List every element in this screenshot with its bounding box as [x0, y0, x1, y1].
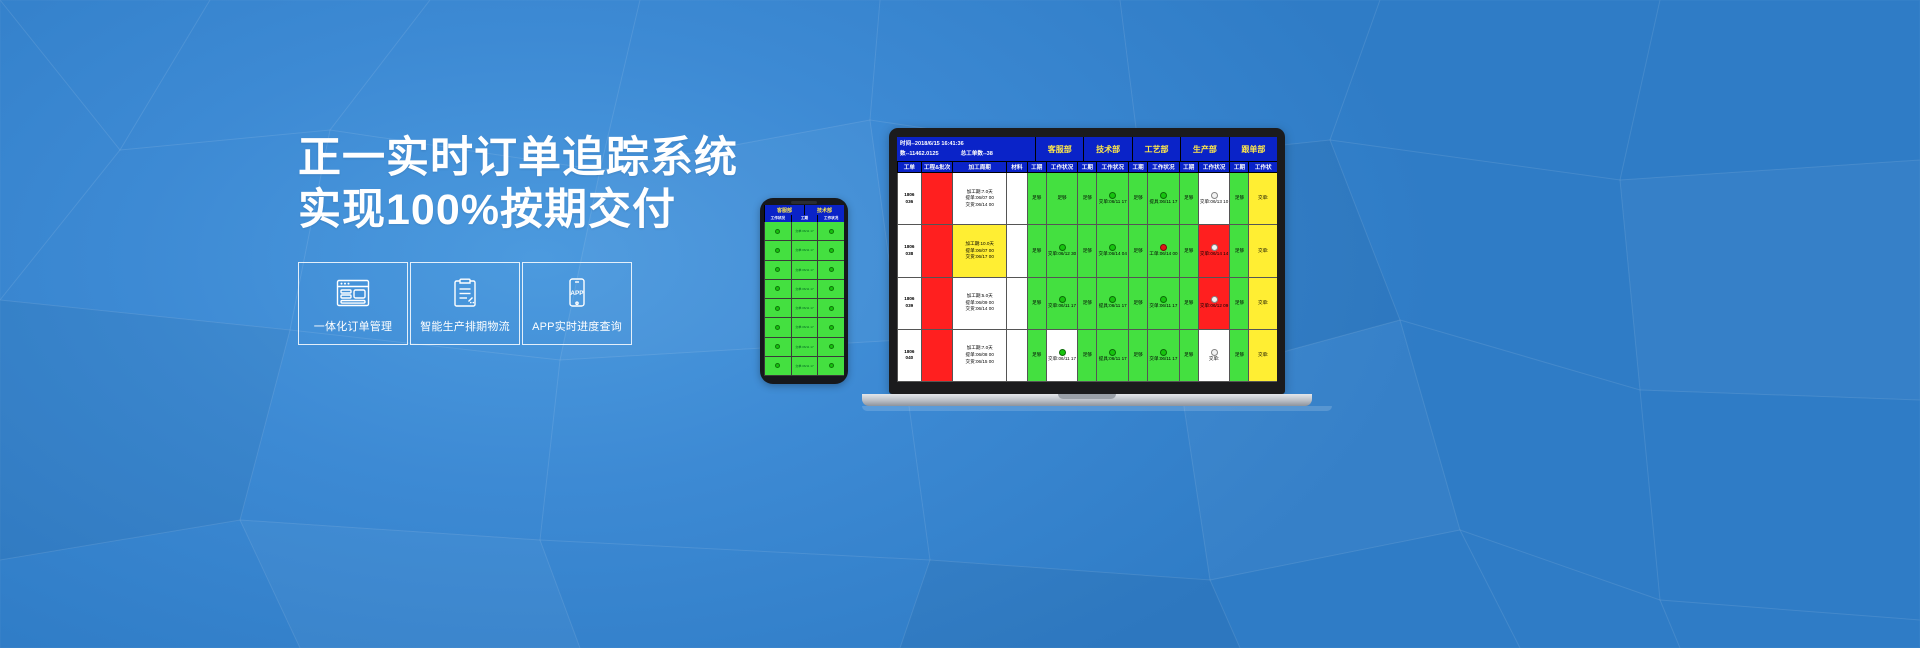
status-dot-icon: [775, 286, 780, 291]
dashboard-meta: 时间--2018/6/15 16:41:36 数--11462.0125 总工单…: [897, 137, 1035, 161]
cell-workstatus-1: 交单:06/14 04: [1096, 225, 1128, 276]
laptop-screen[interactable]: 时间--2018/6/15 16:41:36 数--11462.0125 总工单…: [897, 137, 1277, 382]
cell-label: 交单:: [1209, 356, 1219, 363]
phone-cell-1: 交单:06/11 17: [791, 299, 818, 317]
cell-material: [1006, 225, 1027, 276]
cell-workperiod-2: 足够: [1128, 225, 1147, 276]
phone-cell-2: [817, 338, 844, 356]
column-header-5: 工作状况: [1046, 162, 1078, 172]
cell-workstatus-2: 工单:06/14 00: [1147, 225, 1179, 276]
phone-cell-label: 交单:06/11 17: [795, 345, 813, 349]
cell-label: 提具:06/11 17: [1149, 199, 1177, 206]
column-header-13: 工作状: [1248, 162, 1276, 172]
column-header-7: 工作状况: [1096, 162, 1128, 172]
department-gendan: 跟单部: [1229, 137, 1277, 161]
promo-banner: 正一实时订单追踪系统 实现100%按期交付 一体化订单管理: [0, 0, 1920, 648]
cell-workperiod-4: 足够: [1229, 330, 1248, 381]
phone-cell-label: 交单:06/11 17: [795, 248, 813, 252]
cell-label: 交单:06/11 17: [1099, 199, 1127, 206]
cell-workstatus-4: 交单:: [1248, 330, 1276, 381]
phone-list-item[interactable]: 交单:06/11 17: [764, 338, 844, 357]
status-dot-icon: [775, 248, 780, 253]
cell-workperiod-0: 足够: [1027, 330, 1046, 381]
phone-col-1: 工期: [791, 215, 818, 222]
status-dot-icon: [1109, 244, 1116, 251]
cell-workstatus-1: 交单:06/11 17: [1096, 173, 1128, 224]
phone-cell-2: [817, 222, 844, 240]
cell-workstatus-1: 提具:06/11 17: [1096, 330, 1128, 381]
phone-cell-0: [764, 280, 791, 298]
status-dot-icon: [829, 325, 834, 330]
cell-material: [1006, 173, 1027, 224]
phone-body: 客服部 技术部 工作状况 工期 工作状况 交单:06/11 17交单:06/11…: [760, 198, 848, 384]
phone-cell-label: 交单:06/11 17: [795, 287, 813, 291]
cell-workstatus-3: 交单:06/12 09: [1198, 278, 1230, 329]
phone-list-item[interactable]: 交单:06/11 17: [764, 261, 844, 280]
dashboard-time: 时间--2018/6/15 16:41:36: [900, 139, 1033, 149]
cell-label: 交单:: [1258, 248, 1268, 255]
cell-label: 交单:06/14 04: [1099, 251, 1127, 258]
cell-workstatus-4: 交单:: [1248, 278, 1276, 329]
cell-cycle: 加工期:10.0天提单:06/07 00交货:06/17 00: [952, 225, 1006, 276]
feature-card-label: 一体化订单管理: [314, 318, 392, 334]
status-dot-icon: [829, 344, 834, 349]
phone-cell-1: 交单:06/11 17: [791, 318, 818, 336]
phone-cell-1: 交单:06/11 17: [791, 338, 818, 356]
feature-card-order-management[interactable]: 一体化订单管理: [298, 262, 408, 345]
cell-workperiod-3: 足够: [1179, 225, 1198, 276]
department-shengchan: 生产部: [1180, 137, 1228, 161]
cell-workperiod-2: 足够: [1128, 330, 1147, 381]
dashboard-layout-icon: [336, 274, 370, 312]
status-dot-icon: [1109, 192, 1116, 199]
department-jishu: 技术部: [1083, 137, 1131, 161]
phone-column-header: 工作状况 工期 工作状况: [764, 215, 844, 222]
cell-label: 交单:06/13 10: [1200, 199, 1228, 206]
cell-workstatus-4: 交单:: [1248, 225, 1276, 276]
cell-workperiod-1: 足够: [1077, 330, 1096, 381]
phone-cell-0: [764, 241, 791, 259]
status-dot-icon: [775, 306, 780, 311]
column-header-6: 工期: [1077, 162, 1096, 172]
cell-workperiod-3: 足够: [1179, 330, 1198, 381]
status-dot-icon: [775, 267, 780, 272]
cell-workstatus-0: 足够: [1046, 173, 1078, 224]
cell-workperiod-2: 足够: [1128, 173, 1147, 224]
phone-department-header: 客服部 技术部: [764, 205, 844, 215]
column-header-0: 工单: [897, 162, 921, 172]
feature-card-app-progress[interactable]: APP APP实时进度查询: [522, 262, 632, 345]
cell-workperiod-1: 足够: [1077, 173, 1096, 224]
laptop-device: 时间--2018/6/15 16:41:36 数--11462.0125 总工单…: [862, 128, 1312, 411]
dashboard-total: 总工单数--38: [961, 149, 993, 159]
cell-label: 交单:06/14 14: [1200, 251, 1228, 258]
cell-workstatus-4: 交单:: [1248, 173, 1276, 224]
phone-list-item[interactable]: 交单:06/11 17: [764, 280, 844, 299]
phone-cell-1: 交单:06/11 17: [791, 357, 818, 375]
status-dot-icon: [1160, 192, 1167, 199]
cell-cycle: 加工期:7.0天提单:06/08 00交货:06/15 00: [952, 330, 1006, 381]
cell-workstatus-0: 交单:06/11 17: [1046, 278, 1078, 329]
status-dot-icon: [1211, 349, 1218, 356]
phone-cell-2: [817, 357, 844, 375]
cell-label: 交单:: [1258, 352, 1268, 359]
cell-workperiod-0: 足够: [1027, 278, 1046, 329]
status-dot-icon: [829, 286, 834, 291]
table-row[interactable]: 1806040加工期:7.0天提单:06/08 00交货:06/15 00足够交…: [897, 330, 1277, 382]
table-column-header: 工单工程&批次加工周期材料工期工作状况工期工作状况工期工作状况工期工作状况工期工…: [897, 162, 1277, 173]
phone-screen[interactable]: 客服部 技术部 工作状况 工期 工作状况 交单:06/11 17交单:06/11…: [764, 205, 844, 376]
phone-list-item[interactable]: 交单:06/11 17: [764, 299, 844, 318]
dashboard-count: 数--11462.0125: [900, 149, 939, 159]
cell-workstatus-3: 交单:: [1198, 330, 1230, 381]
cell-project-batch: [921, 330, 953, 381]
phone-cell-2: [817, 261, 844, 279]
cell-workperiod-3: 足够: [1179, 173, 1198, 224]
phone-cell-2: [817, 241, 844, 259]
dashboard-header: 时间--2018/6/15 16:41:36 数--11462.0125 总工单…: [897, 137, 1277, 162]
cell-order-number: 1806038: [897, 225, 921, 276]
cell-project-batch: [921, 173, 953, 224]
laptop-trackpad-notch: [1058, 394, 1116, 399]
phone-device: 客服部 技术部 工作状况 工期 工作状况 交单:06/11 17交单:06/11…: [760, 198, 848, 384]
phone-cell-2: [817, 318, 844, 336]
cell-workstatus-2: 交单:06/11 17: [1147, 330, 1179, 381]
phone-list-item[interactable]: 交单:06/11 17: [764, 222, 844, 241]
cell-workperiod-2: 足够: [1128, 278, 1147, 329]
table-row[interactable]: 1806036加工期:7.0天提单:06/07 00交货:06/14 00足够足…: [897, 173, 1277, 225]
column-header-12: 工期: [1229, 162, 1248, 172]
status-dot-icon: [775, 325, 780, 330]
cell-workperiod-3: 足够: [1179, 278, 1198, 329]
status-dot-icon: [1211, 192, 1218, 199]
status-dot-icon: [829, 248, 834, 253]
status-dot-icon: [829, 267, 834, 272]
phone-cell-1: 交单:06/11 17: [791, 241, 818, 259]
cell-project-batch: [921, 278, 953, 329]
cell-label: 交单:: [1258, 300, 1268, 307]
department-kefu: 客服部: [1035, 137, 1083, 161]
feature-card-label: APP实时进度查询: [532, 318, 622, 334]
phone-list-item[interactable]: 交单:06/11 17: [764, 241, 844, 260]
laptop-base: [862, 394, 1312, 406]
headline-line-1: 正一实时订单追踪系统: [298, 132, 858, 184]
cell-workperiod-1: 足够: [1077, 225, 1096, 276]
cell-label: 足够: [1057, 195, 1066, 202]
cell-workperiod-0: 足够: [1027, 225, 1046, 276]
phone-dept-1: 技术部: [804, 205, 844, 215]
status-dot-icon: [829, 229, 834, 234]
cell-label: 交单:06/11 17: [1048, 356, 1076, 363]
cell-order-number: 1806040: [897, 330, 921, 381]
cell-project-batch: [921, 225, 953, 276]
phone-cell-0: [764, 261, 791, 279]
status-dot-icon: [1211, 244, 1218, 251]
cell-workperiod-4: 足够: [1229, 225, 1248, 276]
table-row[interactable]: 1806038加工期:10.0天提单:06/07 00交货:06/17 00足够…: [897, 225, 1277, 277]
cell-label: 提具:06/11 17: [1099, 303, 1127, 310]
cell-workstatus-1: 提具:06/11 17: [1096, 278, 1128, 329]
phone-cell-0: [764, 338, 791, 356]
dashboard-data-grid[interactable]: 1806036加工期:7.0天提单:06/07 00交货:06/14 00足够足…: [897, 173, 1277, 382]
column-header-8: 工期: [1128, 162, 1147, 172]
phone-notch: [791, 201, 817, 204]
cell-workperiod-4: 足够: [1229, 173, 1248, 224]
cell-workperiod-0: 足够: [1027, 173, 1046, 224]
phone-cell-0: [764, 222, 791, 240]
phone-cell-0: [764, 357, 791, 375]
feature-card-label: 智能生产排期物流: [420, 318, 510, 334]
svg-text:APP: APP: [570, 290, 584, 297]
cell-order-number: 1806036: [897, 173, 921, 224]
clipboard-schedule-icon: [451, 274, 479, 312]
cell-label: 交单:06/12 30: [1048, 251, 1076, 258]
phone-cell-1: 交单:06/11 17: [791, 280, 818, 298]
table-row[interactable]: 1806039加工期:5.0天提单:06/09 00交货:06/14 00足够交…: [897, 278, 1277, 330]
cell-label: 交单:06/11 17: [1048, 303, 1076, 310]
department-gongyi: 工艺部: [1132, 137, 1180, 161]
phone-cell-1: 交单:06/11 17: [791, 261, 818, 279]
phone-col-2: 工作状况: [817, 215, 844, 222]
feature-card-list: 一体化订单管理 智能生产排期物流: [298, 262, 632, 345]
column-header-3: 材料: [1006, 162, 1027, 172]
feature-card-production-schedule[interactable]: 智能生产排期物流: [410, 262, 520, 345]
cell-label: 工单:06/14 00: [1149, 251, 1177, 258]
cell-workstatus-0: 交单:06/12 30: [1046, 225, 1078, 276]
column-header-9: 工作状况: [1147, 162, 1179, 172]
phone-cell-label: 交单:06/11 17: [795, 229, 813, 233]
cell-workstatus-3: 交单:06/13 10: [1198, 173, 1230, 224]
cell-label: 提具:06/11 17: [1099, 356, 1127, 363]
cell-material: [1006, 330, 1027, 381]
status-dot-icon: [1059, 349, 1066, 356]
column-header-10: 工期: [1179, 162, 1198, 172]
cell-cycle: 加工期:5.0天提单:06/09 00交货:06/14 00: [952, 278, 1006, 329]
phone-dept-0: 客服部: [764, 205, 804, 215]
status-dot-icon: [775, 344, 780, 349]
phone-cell-label: 交单:06/11 17: [795, 268, 813, 272]
phone-cell-2: [817, 299, 844, 317]
cell-cycle: 加工期:7.0天提单:06/07 00交货:06/14 00: [952, 173, 1006, 224]
status-dot-icon: [829, 363, 834, 368]
cell-material: [1006, 278, 1027, 329]
column-header-1: 工程&批次: [921, 162, 953, 172]
cell-order-number: 1806039: [897, 278, 921, 329]
column-header-2: 加工周期: [952, 162, 1006, 172]
laptop-lid: 时间--2018/6/15 16:41:36 数--11462.0125 总工单…: [889, 128, 1285, 394]
cell-workstatus-2: 交单:06/11 17: [1147, 278, 1179, 329]
mobile-app-icon: APP: [565, 274, 589, 312]
phone-cell-2: [817, 280, 844, 298]
cell-label: 交单:06/11 17: [1149, 356, 1177, 363]
phone-cell-label: 交单:06/11 17: [795, 364, 813, 368]
status-dot-icon: [1160, 244, 1167, 251]
cell-workperiod-4: 足够: [1229, 278, 1248, 329]
cell-label: 交单:06/12 09: [1200, 303, 1228, 310]
phone-cell-0: [764, 318, 791, 336]
cell-label: 交单:: [1258, 195, 1268, 202]
phone-cell-0: [764, 299, 791, 317]
phone-cell-label: 交单:06/11 17: [795, 306, 813, 310]
phone-list-item[interactable]: 交单:06/11 17: [764, 357, 844, 376]
column-header-4: 工期: [1027, 162, 1046, 172]
department-header-row: 客服部 技术部 工艺部 生产部 跟单部: [1035, 137, 1277, 161]
cell-workstatus-3: 交单:06/14 14: [1198, 225, 1230, 276]
phone-list-item[interactable]: 交单:06/11 17: [764, 318, 844, 337]
phone-cell-1: 交单:06/11 17: [791, 222, 818, 240]
status-dot-icon: [775, 363, 780, 368]
column-header-11: 工作状况: [1198, 162, 1230, 172]
laptop-shadow: [862, 406, 1332, 411]
status-dot-icon: [829, 306, 834, 311]
cell-workstatus-0: 交单:06/11 17: [1046, 330, 1078, 381]
status-dot-icon: [1109, 349, 1116, 356]
cell-workperiod-1: 足够: [1077, 278, 1096, 329]
phone-cell-label: 交单:06/11 17: [795, 325, 813, 329]
cell-label: 交单:06/11 17: [1149, 303, 1177, 310]
status-dot-icon: [1059, 244, 1066, 251]
status-dot-icon: [775, 229, 780, 234]
phone-data-grid[interactable]: 交单:06/11 17交单:06/11 17交单:06/11 17交单:06/1…: [764, 222, 844, 376]
cell-workstatus-2: 提具:06/11 17: [1147, 173, 1179, 224]
status-dot-icon: [1160, 349, 1167, 356]
phone-col-0: 工作状况: [764, 215, 791, 222]
